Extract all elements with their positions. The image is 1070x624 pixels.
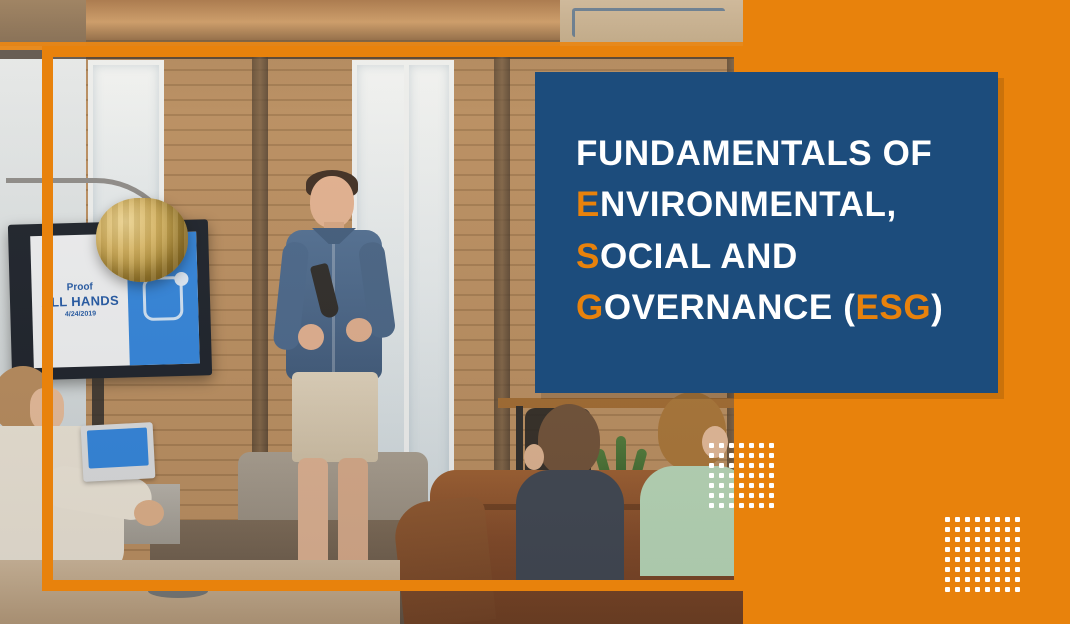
title-accent-g: G xyxy=(576,288,604,327)
title-line-2: ENVIRONMENTAL, xyxy=(576,179,984,230)
dot-grid-right xyxy=(945,517,1020,592)
presenter-figure xyxy=(272,168,402,598)
title-accent-esg: ESG xyxy=(855,288,931,327)
brass-pendant-lamp xyxy=(96,198,188,282)
laptop xyxy=(81,422,156,482)
title-line-1: FUNDAMENTALS OF xyxy=(576,128,984,179)
seated-person-navy-shirt xyxy=(516,404,624,584)
screen-subheading: ALL HANDS xyxy=(41,293,119,310)
title-accent-s: S xyxy=(576,237,600,276)
company-logo-icon xyxy=(143,276,184,321)
screen-heading: Proof xyxy=(67,282,93,295)
dot-grid-left xyxy=(709,443,774,508)
presenter-right-hand xyxy=(346,318,372,342)
couch-armrest xyxy=(392,496,496,624)
laptop-screen xyxy=(87,427,149,468)
table-coaster xyxy=(148,584,208,598)
presenter-head xyxy=(310,176,354,228)
title-line-4-text: OVERNANCE ( xyxy=(604,288,856,327)
slide-canvas: Proof ALL HANDS 4/24/2019 xyxy=(0,0,1070,624)
ceiling-rail xyxy=(0,50,743,59)
title-line-1-text: FUNDAMENTALS OF xyxy=(576,134,932,173)
presenter-left-hand xyxy=(298,324,324,350)
title-line-3: SOCIAL AND xyxy=(576,231,984,282)
title-line-4: GOVERNANCE (ESG) xyxy=(576,282,984,333)
wall-mural xyxy=(560,0,743,46)
title-line-3-text: OCIAL AND xyxy=(600,237,798,276)
title-line-2-text: NVIRONMENTAL, xyxy=(600,185,897,224)
orange-accent-strip xyxy=(0,42,743,50)
screen-date: 4/24/2019 xyxy=(65,311,96,320)
presenter-shorts xyxy=(292,372,378,462)
title-line-4-close: ) xyxy=(931,288,943,327)
slide-title: FUNDAMENTALS OF ENVIRONMENTAL, SOCIAL AN… xyxy=(576,128,984,334)
title-accent-e: E xyxy=(576,185,600,224)
title-panel: FUNDAMENTALS OF ENVIRONMENTAL, SOCIAL AN… xyxy=(535,72,998,393)
